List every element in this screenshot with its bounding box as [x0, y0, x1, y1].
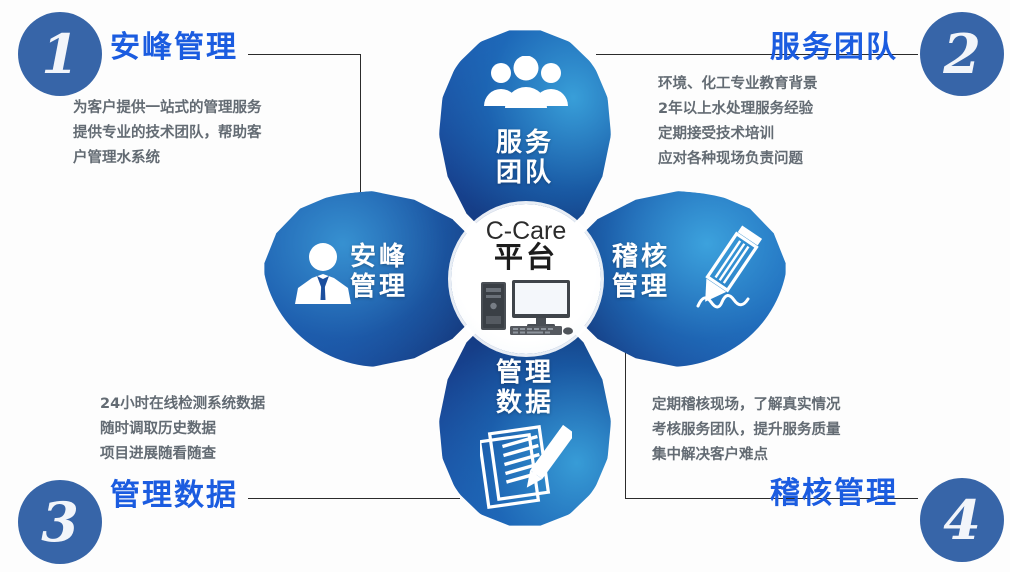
section-body-1: 为客户提供一站式的管理服务 提供专业的技术团队，帮助客 户管理水系统 — [73, 96, 262, 171]
section-number-badge-3: 3 — [18, 480, 102, 564]
pencil-signature-icon — [692, 224, 774, 324]
petal-label-service-team-line1: 服务 — [496, 128, 554, 158]
petal-label-audit-management-line1: 稽核 — [612, 242, 670, 272]
section-title-4: 稽核管理 — [770, 468, 898, 512]
petal-label-anfeng-management-line2: 管理 — [350, 272, 408, 302]
petal-label-anfeng-management-line1: 安峰 — [350, 242, 408, 272]
petal-label-data-management: 管理 数据 — [478, 358, 572, 418]
section-number-badge-1: 1 — [18, 12, 102, 96]
petal-label-audit-management: 稽核 管理 — [612, 242, 692, 302]
section-1-line-2: 提供专业的技术团队，帮助客 — [73, 121, 262, 146]
section-title-3: 管理数据 — [110, 470, 238, 514]
petal-label-service-team-line2: 团队 — [496, 158, 554, 188]
hub-subtitle: 平台 — [451, 243, 601, 271]
petal-label-anfeng-management: 安峰 管理 — [350, 242, 430, 302]
desktop-computer-icon — [479, 276, 575, 342]
petal-label-data-management-line1: 管理 — [496, 358, 554, 388]
section-body-3: 24小时在线检测系统数据 随时调取历史数据 项目进展随看随查 — [100, 392, 265, 467]
flower-diagram: 服务 团队 管理 数据 — [262, 28, 784, 528]
petal-label-service-team: 服务 团队 — [478, 128, 572, 188]
section-number-badge-4: 4 — [920, 478, 1004, 562]
petal-label-data-management-line2: 数据 — [496, 388, 554, 418]
clipboard-pencil-icon — [480, 422, 572, 514]
section-3-line-3: 项目进展随看随查 — [100, 442, 265, 467]
center-hub[interactable]: C-Care 平台 — [451, 204, 601, 354]
section-1-line-1: 为客户提供一站式的管理服务 — [73, 96, 262, 121]
three-people-group-icon — [480, 56, 572, 118]
section-number-badge-2: 2 — [920, 12, 1004, 96]
infographic-canvas: 1 2 3 4 安峰管理 服务团队 管理数据 稽核管理 为客户提供一站式的管理服… — [0, 0, 1010, 572]
section-title-1: 安峰管理 — [110, 22, 238, 66]
section-3-line-1: 24小时在线检测系统数据 — [100, 392, 265, 417]
section-1-line-3: 户管理水系统 — [73, 146, 262, 171]
petal-label-audit-management-line2: 管理 — [612, 272, 670, 302]
section-title-2: 服务团队 — [770, 22, 898, 66]
businessman-avatar-icon — [292, 240, 354, 310]
section-3-line-2: 随时调取历史数据 — [100, 417, 265, 442]
